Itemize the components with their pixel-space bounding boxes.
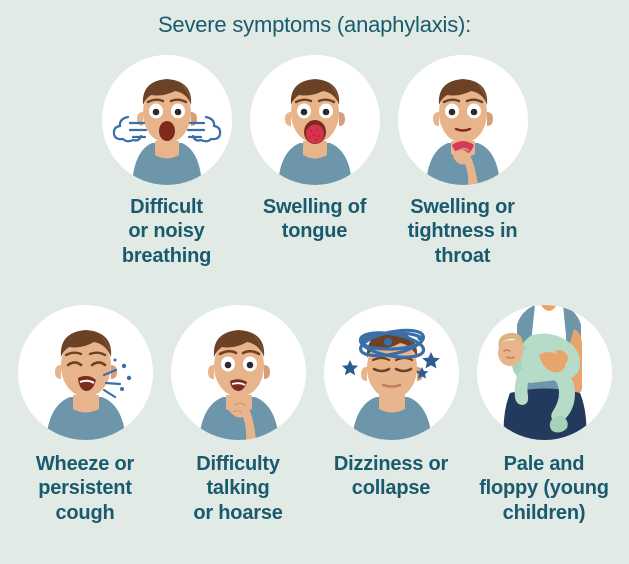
symptom-label: Pale and floppy (young children)	[479, 452, 609, 525]
dizziness-illustration	[324, 305, 459, 440]
cough-icon	[18, 305, 153, 440]
symptom-label: Difficult or noisy breathing	[122, 195, 211, 268]
symptom-row-2: Wheeze or persistent cough	[0, 305, 629, 525]
label-line: Pale and	[479, 452, 609, 476]
cough-illustration	[18, 305, 153, 440]
symptom-label: Difficulty talking or hoarse	[193, 452, 282, 525]
label-line: Swelling of	[263, 195, 366, 219]
symptom-label: Swelling of tongue	[263, 195, 366, 244]
label-line: persistent	[36, 476, 134, 500]
infographic-root: Severe symptoms (anaphylaxis):	[0, 0, 629, 564]
label-line: tongue	[263, 219, 366, 243]
noisy-breathing-illustration	[102, 55, 232, 185]
label-line: tightness in	[408, 219, 518, 243]
floppy-child-icon	[477, 305, 612, 440]
label-line: or hoarse	[193, 501, 282, 525]
symptom-card-swelling-tongue[interactable]: Swelling of tongue	[241, 55, 389, 268]
floppy-child-illustration	[477, 305, 612, 440]
symptom-card-noisy-breathing[interactable]: Difficult or noisy breathing	[93, 55, 241, 268]
symptom-row-1: Difficult or noisy breathing	[0, 55, 629, 268]
symptom-card-throat-tightness[interactable]: Swelling or tightness in throat	[389, 55, 537, 268]
symptom-label: Swelling or tightness in throat	[408, 195, 518, 268]
label-line: or noisy	[122, 219, 211, 243]
symptom-card-pale-floppy[interactable]: Pale and floppy (young children)	[468, 305, 621, 525]
symptom-label: Wheeze or persistent cough	[36, 452, 134, 525]
hoarse-throat-illustration	[171, 305, 306, 440]
symptom-card-wheeze-cough[interactable]: Wheeze or persistent cough	[9, 305, 162, 525]
hoarse-throat-icon	[171, 305, 306, 440]
label-line: children)	[479, 501, 609, 525]
swollen-tongue-illustration	[250, 55, 380, 185]
label-line: collapse	[334, 476, 448, 500]
symptom-card-dizziness[interactable]: Dizziness or collapse	[315, 305, 468, 525]
symptom-card-difficulty-talking[interactable]: Difficulty talking or hoarse	[162, 305, 315, 525]
label-line: Swelling or	[408, 195, 518, 219]
label-line: throat	[408, 244, 518, 268]
label-line: talking	[193, 476, 282, 500]
label-line: Wheeze or	[36, 452, 134, 476]
label-line: breathing	[122, 244, 211, 268]
page-title: Severe symptoms (anaphylaxis):	[0, 12, 629, 38]
symptom-label: Dizziness or collapse	[334, 452, 448, 501]
label-line: floppy (young	[479, 476, 609, 500]
throat-swelling-icon	[398, 55, 528, 185]
swollen-tongue-icon	[250, 55, 380, 185]
throat-swelling-illustration	[398, 55, 528, 185]
label-line: Difficulty	[193, 452, 282, 476]
label-line: Dizziness or	[334, 452, 448, 476]
label-line: Difficult	[122, 195, 211, 219]
dizziness-icon	[324, 305, 459, 440]
noisy-breathing-icon	[102, 55, 232, 185]
label-line: cough	[36, 501, 134, 525]
